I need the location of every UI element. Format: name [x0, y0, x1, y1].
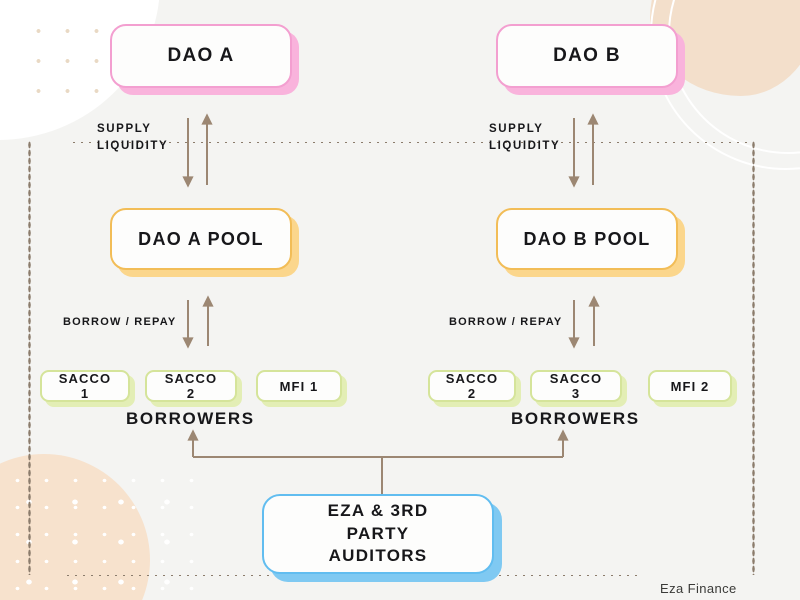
diagram-canvas: DAO A DAO B DAO A POOL DAO B POOL SACCO …	[0, 0, 800, 600]
node-borrower-a-1-label: SACCO 1	[54, 371, 116, 401]
node-auditors[interactable]: EZA & 3RD PARTY AUDITORS	[262, 494, 494, 574]
node-borrower-b-3[interactable]: MFI 2	[648, 370, 732, 402]
node-borrower-a-3-label: MFI 1	[280, 379, 319, 394]
node-dao-b-label: DAO B	[553, 45, 621, 67]
node-borrower-a-3[interactable]: MFI 1	[256, 370, 342, 402]
node-auditors-line-1: EZA & 3RD	[328, 500, 429, 522]
node-dao-a[interactable]: DAO A	[110, 24, 292, 88]
node-dao-a-label: DAO A	[167, 45, 234, 67]
node-dao-b[interactable]: DAO B	[496, 24, 678, 88]
node-borrower-b-2[interactable]: SACCO 3	[530, 370, 622, 402]
label-borrowers-group-a: BORROWERS	[126, 409, 255, 429]
label-borrow-repay-b: BORROW / REPAY	[449, 316, 562, 328]
node-dao-b-pool[interactable]: DAO B POOL	[496, 208, 678, 270]
label-supply-liquidity-b: SUPPLY LIQUIDITY	[489, 121, 560, 154]
node-borrower-b-1[interactable]: SACCO 2	[428, 370, 516, 402]
node-borrower-a-1[interactable]: SACCO 1	[40, 370, 130, 402]
node-borrower-a-2[interactable]: SACCO 2	[145, 370, 237, 402]
label-borrowers-group-b: BORROWERS	[511, 409, 640, 429]
node-borrower-b-1-label: SACCO 2	[442, 371, 502, 401]
node-borrower-a-2-label: SACCO 2	[159, 371, 223, 401]
node-auditors-line-3: AUDITORS	[329, 545, 428, 567]
node-dao-a-pool[interactable]: DAO A POOL	[110, 208, 292, 270]
node-dao-b-pool-label: DAO B POOL	[523, 229, 650, 250]
node-dao-a-pool-label: DAO A POOL	[138, 229, 264, 250]
brand-watermark: Eza Finance	[660, 581, 737, 596]
node-borrower-b-3-label: MFI 2	[671, 379, 710, 394]
node-borrower-b-2-label: SACCO 3	[544, 371, 608, 401]
label-supply-liquidity-a: SUPPLY LIQUIDITY	[97, 121, 168, 154]
label-borrow-repay-a: BORROW / REPAY	[63, 316, 176, 328]
node-auditors-line-2: PARTY	[347, 523, 410, 545]
